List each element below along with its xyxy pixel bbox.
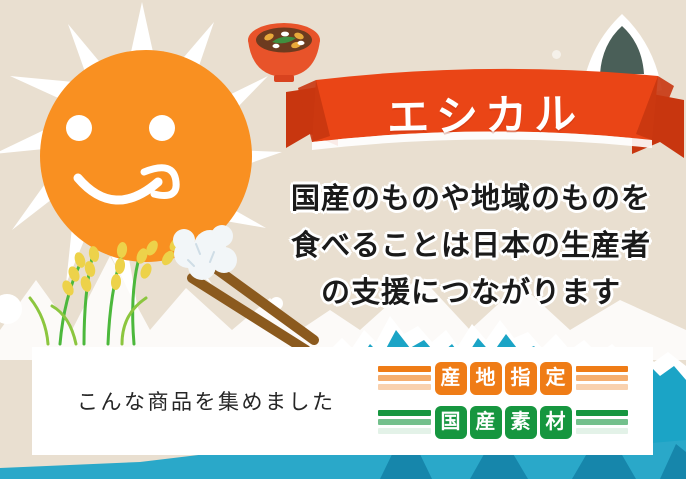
headline-line-2: 食べることは日本の生産者 (262, 223, 680, 270)
badge-stripe (378, 410, 431, 416)
badge-domestic-material: 国 産 素 材 (378, 402, 628, 442)
rice-clump (173, 225, 237, 280)
badge-char: 素 (505, 406, 537, 439)
badge-stripe (576, 375, 629, 381)
badge-origin-designated: 産 地 指 定 (378, 358, 628, 398)
badge-stripes-right (576, 366, 629, 390)
badge-stripes-left (378, 410, 431, 434)
badge-stripes-right (576, 410, 629, 434)
badge-group: 産 地 指 定 国 産 素 材 (378, 358, 628, 446)
badge-chips: 産 地 指 定 (435, 362, 572, 395)
badge-stripe (378, 428, 431, 434)
badge-char: 定 (540, 362, 572, 395)
ribbon-band (312, 69, 658, 142)
decorative-dot (552, 50, 561, 59)
badge-char: 産 (470, 406, 502, 439)
badge-char: 材 (540, 406, 572, 439)
badge-stripe (576, 419, 629, 425)
badge-chips: 国 産 素 材 (435, 406, 572, 439)
badge-stripe (576, 384, 629, 390)
badge-char: 地 (470, 362, 502, 395)
headline: 国産のものや地域のものを 食べることは日本の生産者 の支援につながります (262, 176, 680, 317)
badge-stripe (576, 428, 629, 434)
badge-stripes-left (378, 366, 431, 390)
badge-char: 指 (505, 362, 537, 395)
sun-eye-left (66, 115, 92, 141)
ethical-promo-banner: エシカル 国産のものや地域のものを 食べることは日本の生産者 の支援につながりま… (0, 0, 686, 479)
badge-char: 国 (435, 406, 467, 439)
panel-caption: こんな商品を集めました (77, 386, 336, 416)
ribbon-banner (286, 62, 684, 166)
headline-line-3: の支援につながります (262, 270, 680, 317)
badge-stripe (576, 366, 629, 372)
badge-stripe (378, 366, 431, 372)
sun-eye-right (149, 115, 175, 141)
badge-char: 産 (435, 362, 467, 395)
badge-stripe (378, 384, 431, 390)
badge-stripe (576, 410, 629, 416)
badge-stripe (378, 419, 431, 425)
badge-stripe (378, 375, 431, 381)
headline-line-1: 国産のものや地域のものを (262, 176, 680, 223)
